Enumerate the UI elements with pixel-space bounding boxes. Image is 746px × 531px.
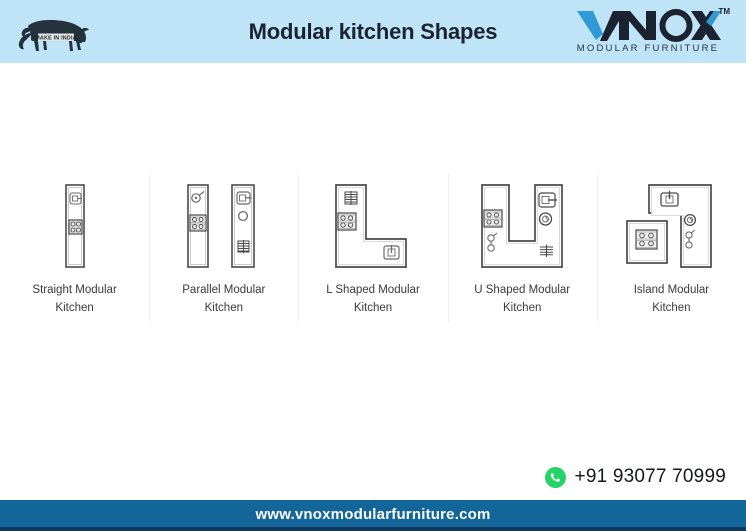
u-shaped-kitchen-layout-icon xyxy=(477,180,567,272)
shape-label: Island Modular Kitchen xyxy=(634,282,709,318)
vnox-letters-icon xyxy=(573,8,723,42)
shape-card-straight[interactable]: Straight Modular Kitchen xyxy=(0,150,149,328)
l-shaped-kitchen-layout-icon xyxy=(330,180,416,272)
sink-icon xyxy=(237,192,252,204)
brand-tagline: MODULAR FURNITURE xyxy=(568,43,728,54)
shape-label-line2: Kitchen xyxy=(354,302,392,314)
kitchen-shapes-row: Straight Modular Kitchen xyxy=(0,150,746,328)
phone-number[interactable]: +91 93077 70999 xyxy=(575,466,726,488)
sink-icon xyxy=(661,191,678,206)
shape-label-line1: U Shaped Modular xyxy=(474,284,570,296)
shape-label-line2: Kitchen xyxy=(652,302,690,314)
stove-icon xyxy=(190,215,206,231)
shape-card-island[interactable]: Island Modular Kitchen xyxy=(597,150,746,328)
shape-label: Parallel Modular Kitchen xyxy=(182,282,265,318)
page-footer: www.vnoxmodularfurniture.com xyxy=(0,500,746,531)
shape-label-line1: L Shaped Modular xyxy=(326,284,420,296)
island-kitchen-layout-icon xyxy=(625,180,717,272)
page-header: MAKE IN INDIA Modular kitchen Shapes TM … xyxy=(0,0,746,63)
shape-label-line1: Island Modular xyxy=(634,284,709,296)
stove-icon xyxy=(484,210,502,227)
shape-label-line2: Kitchen xyxy=(55,302,93,314)
shape-card-l-shaped[interactable]: L Shaped Modular Kitchen xyxy=(298,150,447,328)
stove-icon xyxy=(636,230,657,249)
shelf-icon xyxy=(238,240,249,253)
stove-icon xyxy=(69,220,82,234)
straight-kitchen-layout-icon xyxy=(55,180,95,272)
sink-icon xyxy=(384,245,399,259)
shape-card-parallel[interactable]: Parallel Modular Kitchen xyxy=(149,150,298,328)
shape-card-u-shaped[interactable]: U Shaped Modular Kitchen xyxy=(448,150,597,328)
shape-label-line2: Kitchen xyxy=(503,302,541,314)
trademark-symbol: TM xyxy=(718,7,730,16)
sink-icon xyxy=(70,193,82,204)
shelf-icon xyxy=(345,191,357,205)
contact-block[interactable]: +91 93077 70999 xyxy=(545,466,726,488)
shape-label-line1: Straight Modular xyxy=(32,284,116,296)
sink-icon xyxy=(539,193,557,207)
whatsapp-icon[interactable] xyxy=(545,467,566,488)
website-url[interactable]: www.vnoxmodularfurniture.com xyxy=(255,506,490,523)
stove-icon xyxy=(338,213,356,230)
shape-label: Straight Modular Kitchen xyxy=(32,282,116,318)
vnox-wordmark: TM xyxy=(568,8,728,42)
vnox-brand-logo: TM MODULAR FURNITURE xyxy=(568,8,728,58)
shape-label-line1: Parallel Modular xyxy=(182,284,265,296)
shape-label: U Shaped Modular Kitchen xyxy=(474,282,570,318)
parallel-kitchen-layout-icon xyxy=(184,180,264,272)
shape-label-line2: Kitchen xyxy=(205,302,243,314)
shape-label: L Shaped Modular Kitchen xyxy=(326,282,420,318)
